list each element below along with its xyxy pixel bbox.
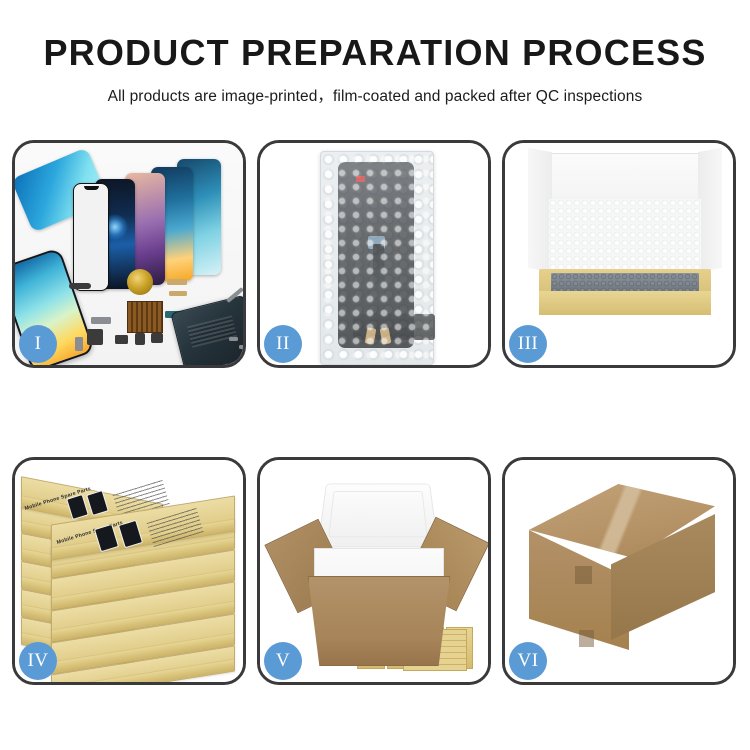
box-stack: Mobile Phone Spare Parts Mobile Phone Sp… <box>21 482 239 676</box>
carton-body <box>308 576 450 666</box>
steps-grid: I II <box>12 140 738 685</box>
phone-backplate <box>170 295 243 365</box>
sealed-carton <box>529 478 715 666</box>
step-panel-5: V <box>257 457 491 685</box>
foam-sheet <box>549 199 701 273</box>
step-panel-6: VI <box>502 457 736 685</box>
step-panel-2: II <box>257 140 491 368</box>
product-preparation-infographic: PRODUCT PREPARATION PROCESS All products… <box>0 0 750 750</box>
open-carton <box>278 476 476 674</box>
step-badge-6: VI <box>509 642 547 680</box>
styrofoam-lid <box>317 484 438 548</box>
step-panel-1: I <box>12 140 246 368</box>
bubble-wrap-bag <box>320 151 434 365</box>
page-subtitle: All products are image-printed，film-coat… <box>0 84 750 106</box>
flex-cable-part-1 <box>167 279 187 285</box>
vibrator-part <box>135 333 145 345</box>
step-badge-2: II <box>264 325 302 363</box>
yellow-box-open <box>539 269 711 315</box>
page-title: PRODUCT PREPARATION PROCESS <box>0 34 750 72</box>
camera-module-part <box>87 329 103 345</box>
bubble-wrapped-contents <box>551 273 699 293</box>
lcd-tape-left <box>365 327 377 344</box>
chip-grid-part <box>127 301 163 333</box>
sim-tray-part <box>75 337 83 351</box>
screw-part-2 <box>239 345 243 349</box>
yellow-box-front-panel <box>539 291 711 315</box>
screw-part-1 <box>229 337 238 341</box>
bracket-part-1 <box>91 317 111 324</box>
lcd-label-sticker <box>356 176 365 182</box>
step-panel-3: III <box>502 140 736 368</box>
phone-screen-fan <box>73 157 243 287</box>
step-badge-3: III <box>509 325 547 363</box>
carton-handle-tab-bottom <box>579 630 594 647</box>
carton-handle-tab-top <box>575 566 592 584</box>
button-part <box>115 335 128 344</box>
page-header: PRODUCT PREPARATION PROCESS All products… <box>0 0 750 106</box>
connector-part <box>151 333 163 343</box>
step-badge-5: V <box>264 642 302 680</box>
step-panel-4: Mobile Phone Spare Parts Mobile Phone Sp… <box>12 457 246 685</box>
spare-parts-cluster <box>69 271 243 365</box>
earpiece-part <box>69 283 91 289</box>
flex-cable-part-2 <box>169 291 187 296</box>
lcd-screen <box>338 162 414 348</box>
speaker-coil-part <box>127 269 153 295</box>
step-badge-4: IV <box>19 642 57 680</box>
step-badge-1: I <box>19 325 57 363</box>
